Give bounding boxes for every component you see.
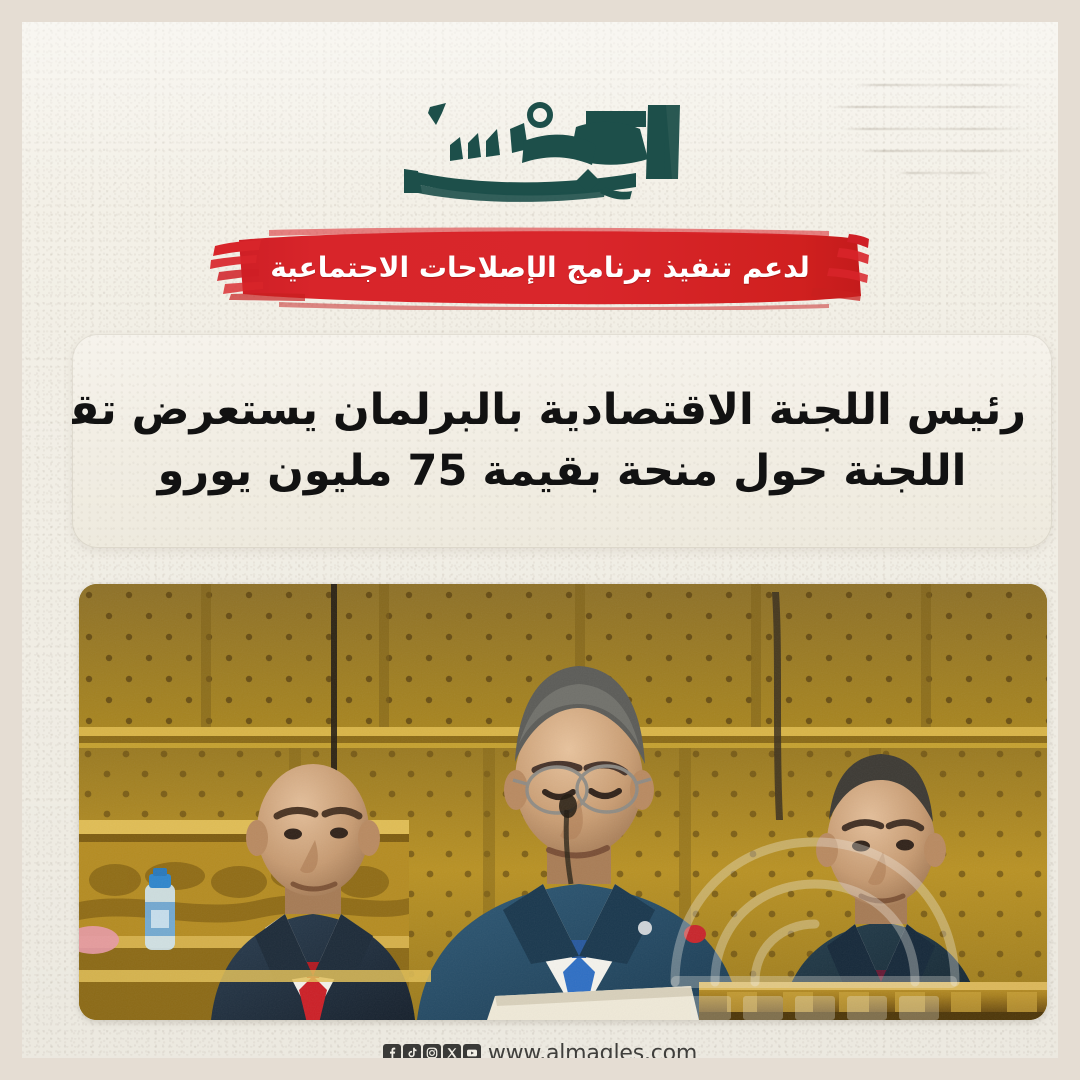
site-logo[interactable]: المجلس [22,88,1058,208]
facebook-glyph [386,1047,398,1058]
headline-line-1: رئيس اللجنة الاقتصادية بالبرلمان يستعرض … [98,380,1026,441]
news-card-poster: المجلس [0,0,1080,1080]
news-photo[interactable] [79,584,1047,1020]
website-url[interactable]: www.almagles.com [488,1041,697,1059]
headline-line-2: اللجنة حول منحة بقيمة 75 مليون يورو [98,441,1026,502]
headline-card: رئيس اللجنة الاقتصادية بالبرلمان يستعرض … [72,334,1052,548]
youtube-glyph [466,1047,478,1058]
logo-text: المجلس [540,148,541,149]
x-glyph [446,1047,458,1058]
tiktok-glyph [406,1047,418,1058]
parliament-session-image [79,584,1047,1020]
calligraphy-line [855,84,1030,86]
facebook-icon[interactable] [383,1044,401,1058]
tiktok-icon[interactable] [403,1044,421,1058]
youtube-icon[interactable] [463,1044,481,1058]
instagram-icon[interactable] [423,1044,441,1058]
footer-bar: www.almagles.com [22,1034,1058,1058]
kicker-banner: لدعم تنفيذ برنامج الإصلاحات الاجتماعية [22,222,1058,314]
kicker-text: لدعم تنفيذ برنامج الإصلاحات الاجتماعية [270,251,810,284]
x-icon[interactable] [443,1044,461,1058]
poster-inner-panel: المجلس [22,22,1058,1058]
instagram-glyph [426,1047,438,1058]
